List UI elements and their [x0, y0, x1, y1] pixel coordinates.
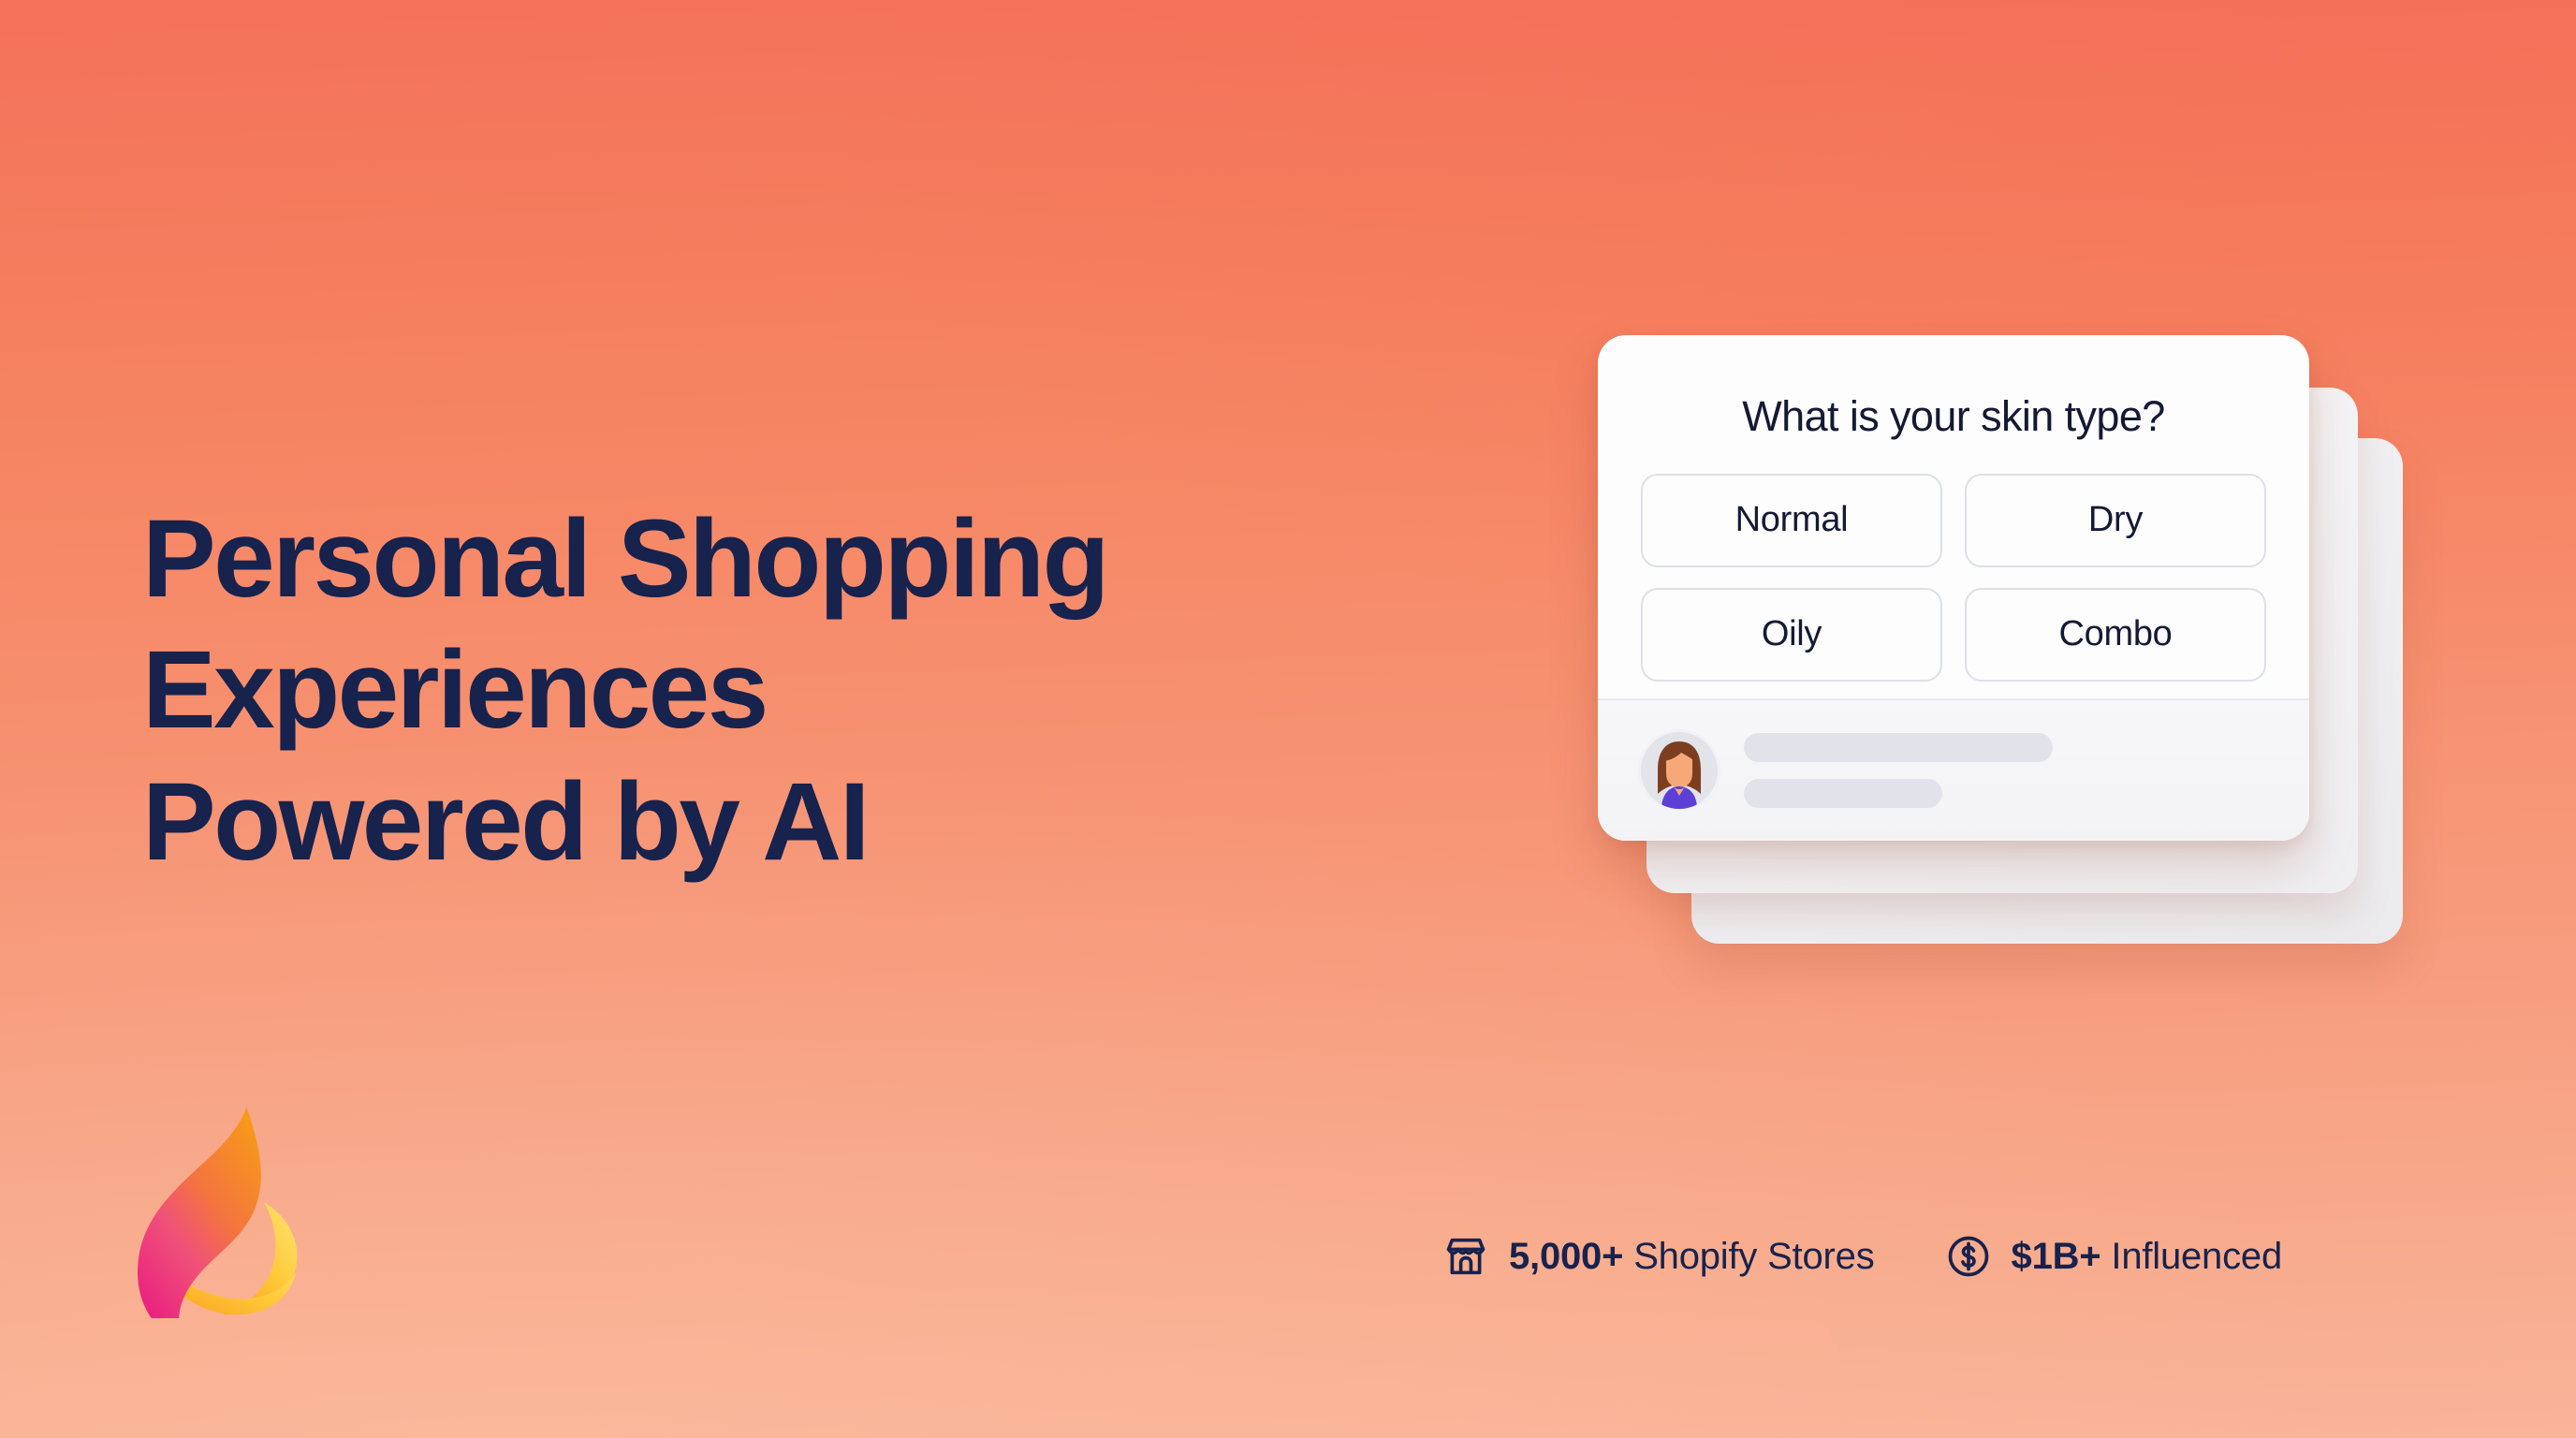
- quiz-card-front: What is your skin type? Normal Dry Oily …: [1598, 335, 2309, 841]
- stat-value: $1B+: [2012, 1236, 2101, 1277]
- message-skeleton: [1744, 733, 2053, 808]
- stat-text: 5,000+ Shopify Stores: [1509, 1238, 1875, 1275]
- stat-label: Shopify Stores: [1633, 1236, 1874, 1277]
- skeleton-line: [1744, 733, 2053, 762]
- stat-text: $1B+ Influenced: [2012, 1238, 2282, 1275]
- quiz-option-dry[interactable]: Dry: [1965, 474, 2266, 567]
- quiz-option-combo[interactable]: Combo: [1965, 588, 2266, 682]
- quiz-options: Normal Dry Oily Combo: [1641, 474, 2266, 682]
- flame-main-shape: [138, 1107, 261, 1318]
- dollar-circle-icon: [1944, 1232, 1993, 1281]
- stat-shopify-stores: 5,000+ Shopify Stores: [1442, 1232, 1875, 1281]
- page-title: Personal Shopping Experiences Powered by…: [142, 493, 1107, 888]
- flame-logo: [133, 1093, 311, 1318]
- storefront-icon: [1442, 1232, 1490, 1281]
- stat-label: Influenced: [2111, 1236, 2282, 1277]
- stats-bar: 5,000+ Shopify Stores $1B+ Influenced: [1442, 1232, 2282, 1281]
- quiz-card-body: What is your skin type? Normal Dry Oily …: [1598, 335, 2309, 682]
- avatar: [1641, 732, 1718, 809]
- stat-value: 5,000+: [1509, 1236, 1623, 1277]
- skeleton-line: [1744, 779, 1942, 808]
- quiz-option-oily[interactable]: Oily: [1641, 588, 1942, 682]
- quiz-question: What is your skin type?: [1641, 393, 2266, 440]
- quiz-card-stack: What is your skin type? Normal Dry Oily …: [1598, 335, 2403, 990]
- hero-banner: Personal Shopping Experiences Powered by…: [0, 0, 2576, 1438]
- quiz-option-normal[interactable]: Normal: [1641, 474, 1942, 567]
- quiz-card-footer: [1598, 698, 2309, 841]
- stat-influenced: $1B+ Influenced: [1944, 1232, 2282, 1281]
